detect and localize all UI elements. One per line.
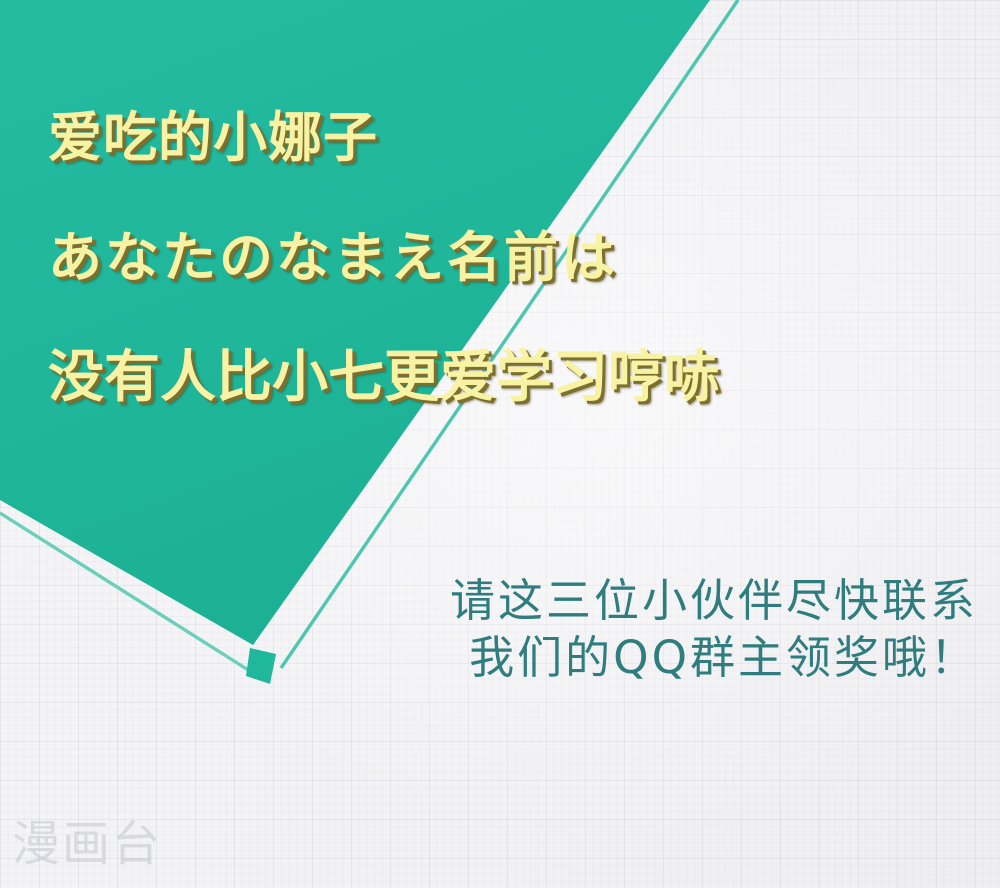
teal-corner-chip (246, 648, 276, 684)
site-watermark: 漫画台 (12, 804, 162, 874)
winner-name-1: 爱吃的小娜子 (48, 78, 948, 198)
winner-name-list: 爱吃的小娜子 あなたのなまえ名前は 没有人比小七更爱学习哼哧 (48, 78, 948, 438)
claim-instruction-note: 请这三位小伙伴尽快联系 我们的QQ群主领奖哦！ (450, 572, 978, 686)
note-line-1: 请这三位小伙伴尽快联系 (450, 572, 978, 629)
winner-name-2: あなたのなまえ名前は (48, 198, 948, 318)
note-line-2: 我们的QQ群主领奖哦！ (450, 629, 978, 686)
winner-name-3: 没有人比小七更爱学习哼哧 (48, 318, 948, 438)
announcement-page: 爱吃的小娜子 あなたのなまえ名前は 没有人比小七更爱学习哼哧 请这三位小伙伴尽快… (0, 0, 1000, 888)
